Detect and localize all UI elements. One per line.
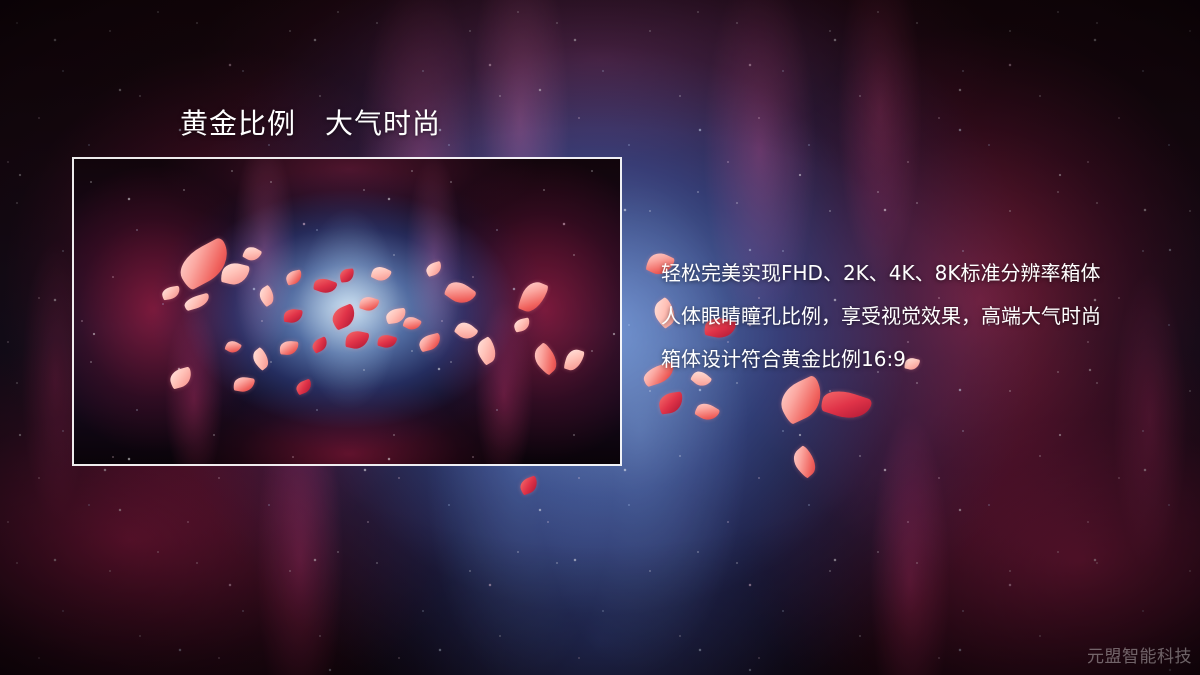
body-line-3: 箱体设计符合黄金比例16:9: [661, 338, 1181, 381]
body-line-1: 轻松完美实现FHD、2K、4K、8K标准分辨率箱体: [661, 252, 1181, 295]
image-frame: [72, 157, 622, 466]
presentation-slide: 黄金比例 大气时尚: [0, 0, 1200, 675]
page-title: 黄金比例 大气时尚: [180, 102, 441, 142]
watermark-text: 元盟智能科技: [1087, 642, 1192, 667]
body-text-block: 轻松完美实现FHD、2K、4K、8K标准分辨率箱体 人体眼睛瞳孔比例，享受视觉效…: [661, 252, 1181, 381]
body-line-2: 人体眼睛瞳孔比例，享受视觉效果，高端大气时尚: [661, 295, 1181, 338]
image-content: [74, 159, 620, 464]
